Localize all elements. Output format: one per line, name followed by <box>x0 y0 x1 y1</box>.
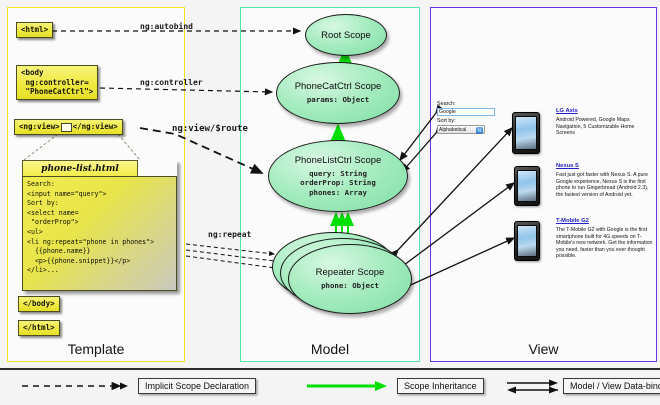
panel-model-title: Model <box>241 341 419 357</box>
panel-view-title: View <box>431 341 656 357</box>
label-ng-controller: ng:controller <box>140 78 203 87</box>
phone-name-link[interactable]: Nexus S <box>556 163 653 169</box>
code-tag-ngview: <ng:view></ng:view> <box>14 119 123 135</box>
scope-phonelistctrl-props: query: String orderProp: String phones: … <box>300 169 376 198</box>
phone-thumbnail-nexus-s <box>514 166 540 206</box>
search-label: Search: <box>437 101 456 107</box>
phone-list-item: LG Axis Android Powered, Google Maps Nav… <box>556 108 653 137</box>
phone-list-item: Nexus S Fast just got faster with Nexus … <box>556 163 653 198</box>
diagram-canvas: Template Model View <box>0 0 660 405</box>
legend-double-arrow-icon <box>505 378 565 394</box>
phone-screen <box>517 170 537 202</box>
legend-divider <box>0 368 660 370</box>
panel-template-title: Template <box>8 341 184 357</box>
sort-select[interactable]: Alphabetical ⇅ <box>437 125 485 134</box>
ngview-close-tag: </ng:view> <box>73 122 118 131</box>
scope-repeater-name: Repeater Scope <box>316 267 385 278</box>
phone-screen <box>517 225 537 257</box>
label-ng-view-route: ng:view/$route <box>172 124 248 134</box>
phone-snippet: The T-Mobile G2 with Google is the first… <box>556 227 653 260</box>
code-tag-html-close: </html> <box>18 320 60 336</box>
code-tag-body: <body ng:controller= "PhoneCatCtrl"> <box>16 65 98 100</box>
chevron-updown-icon: ⇅ <box>476 127 483 134</box>
sort-select-value: Alphabetical <box>439 126 466 134</box>
scope-root: Root Scope <box>305 14 387 56</box>
legend: Implicit Scope Declaration Scope Inherit… <box>0 368 660 405</box>
scope-phonecatctrl: PhoneCatCtrl Scope params: Object <box>276 62 400 124</box>
legend-label-inheritance: Scope Inheritance <box>397 378 484 394</box>
phone-snippet: Fast just got faster with Nexus S. A pur… <box>556 172 653 198</box>
scope-root-name: Root Scope <box>321 30 371 41</box>
phone-thumbnail-lg-axis <box>512 112 540 154</box>
phone-name-link[interactable]: T-Mobile G2 <box>556 218 653 224</box>
scope-phonecatctrl-name: PhoneCatCtrl Scope <box>295 81 382 92</box>
label-ng-repeat: ng:repeat <box>208 230 251 239</box>
scope-repeater: Repeater Scope phone: Object <box>288 244 412 314</box>
phone-list-html-note: phone-list.html Search: <input name="que… <box>22 160 177 291</box>
scope-phonelistctrl: PhoneListCtrl Scope query: String orderP… <box>268 140 408 212</box>
phone-list-item: T-Mobile G2 The T-Mobile G2 with Google … <box>556 218 653 260</box>
scope-phonecatctrl-props: params: Object <box>307 95 369 105</box>
phone-thumbnail-t-mobile-g2 <box>514 221 540 261</box>
phone-screen <box>515 116 537 150</box>
sort-label: Sort by: <box>437 118 456 124</box>
search-input[interactable]: Google <box>437 108 495 116</box>
legend-dashed-arrow-icon <box>20 378 140 394</box>
note-title: phone-list.html <box>22 160 138 177</box>
phone-name-link[interactable]: LG Axis <box>556 108 653 114</box>
note-code: Search: <input name="query"> Sort by: <s… <box>22 176 177 291</box>
phone-snippet: Android Powered, Google Maps Navigation,… <box>556 117 653 137</box>
code-tag-html: <html> <box>16 22 53 38</box>
ngview-content-slot <box>61 123 72 132</box>
legend-label-binding: Model / View Data-binding <box>563 378 660 394</box>
scope-repeater-props: phone: Object <box>321 281 379 291</box>
scope-phonelistctrl-name: PhoneListCtrl Scope <box>295 155 382 166</box>
legend-green-arrow-icon <box>305 378 405 394</box>
code-tag-body-close: </body> <box>18 296 60 312</box>
legend-label-implicit: Implicit Scope Declaration <box>138 378 256 394</box>
ngview-open-tag: <ng:view> <box>19 122 60 131</box>
label-ng-autobind: ng:autobind <box>140 22 193 31</box>
